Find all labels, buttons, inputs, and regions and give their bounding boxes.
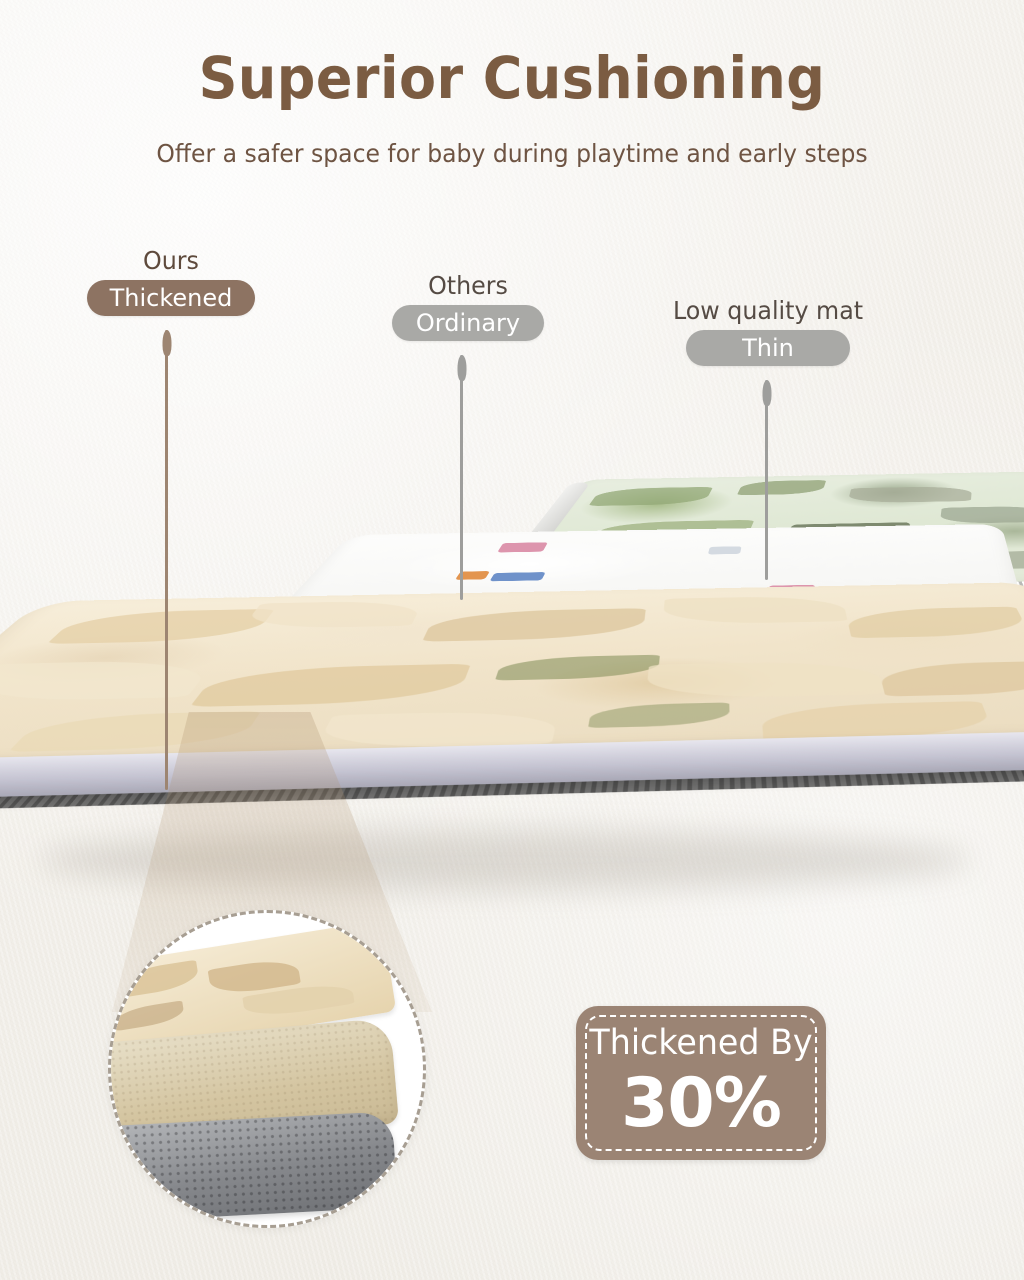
callout-ours-caption: Ours bbox=[86, 246, 257, 275]
cross-section-magnifier bbox=[108, 910, 426, 1228]
promo-graphic: Superior Cushioning Offer a safer space … bbox=[0, 0, 1024, 1280]
badge-line-1: Thickened By bbox=[582, 1023, 820, 1063]
pointer-line-low-quality bbox=[765, 380, 768, 580]
badge-line-2: 30% bbox=[576, 1064, 826, 1143]
thickened-badge: Thickened By 30% bbox=[576, 1006, 826, 1160]
callout-others-pill: Ordinary bbox=[392, 305, 544, 341]
callout-others: Others Ordinary bbox=[386, 271, 550, 341]
callout-low-quality-caption: Low quality mat bbox=[665, 296, 870, 325]
mat-ours-beige bbox=[0, 582, 1024, 777]
layer-antislip-bottom bbox=[111, 1111, 397, 1223]
callout-others-caption: Others bbox=[390, 271, 546, 300]
callout-low-quality-pill: Thin bbox=[686, 330, 850, 366]
pointer-line-ours bbox=[165, 330, 168, 790]
ground-shadow-main bbox=[40, 830, 970, 890]
callout-low-quality: Low quality mat Thin bbox=[660, 296, 876, 366]
callout-ours: Ours Thickened bbox=[81, 246, 261, 316]
callout-ours-pill: Thickened bbox=[87, 280, 255, 316]
pointer-line-others bbox=[460, 355, 463, 600]
